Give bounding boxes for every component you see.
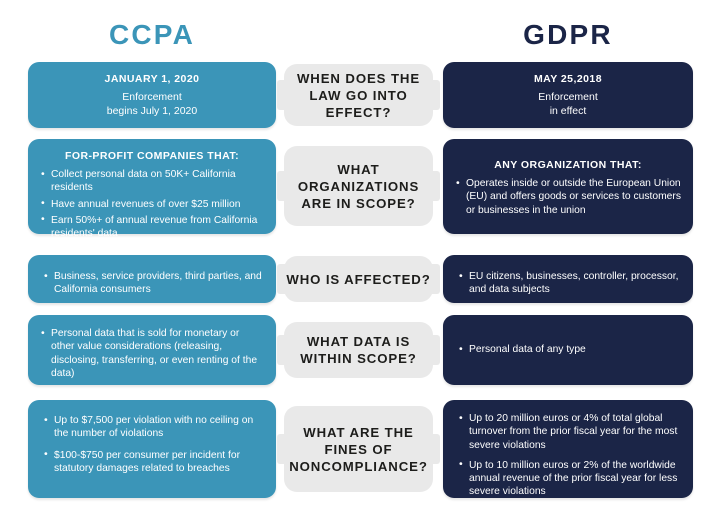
list-item: Business, service providers, third parti… [40, 270, 264, 297]
gdpr-effective-date-sub-line2: in effect [455, 105, 681, 119]
ccpa-card-organizations: FOR-PROFIT COMPANIES THAT: Collect perso… [28, 139, 276, 234]
pill-connector-right [432, 264, 440, 294]
question-pill-who-affected: Who is affected? [284, 256, 433, 302]
gdpr-data-scope-list: Personal data of any type [455, 343, 681, 356]
gdpr-effective-date-sub-line1: Enforcement [455, 91, 681, 105]
gdpr-organizations-list: Operates inside or outside the European … [455, 177, 681, 217]
column-title-gdpr: GDPR [443, 18, 693, 52]
list-item: Up to 10 million euros or 2% of the worl… [455, 459, 681, 499]
list-item: Up to 20 million euros or 4% of total gl… [455, 412, 681, 452]
ccpa-gdpr-comparison-infographic: CCPA GDPR JANUARY 1, 2020 Enforcement be… [0, 0, 720, 530]
question-label-data-scope: What data is within scope? [284, 333, 433, 367]
gdpr-card-data-scope: Personal data of any type [443, 315, 693, 385]
gdpr-card-effective-date: MAY 25,2018 Enforcement in effect [443, 62, 693, 128]
list-item: Operates inside or outside the European … [455, 177, 681, 217]
ccpa-effective-date-sub-line1: Enforcement [40, 91, 264, 105]
ccpa-organizations-heading: FOR-PROFIT COMPANIES THAT: [40, 150, 264, 163]
ccpa-card-fines: Up to $7,500 per violation with no ceili… [28, 400, 276, 498]
pill-connector-right [432, 434, 440, 464]
question-label-organizations: What organizations are in scope? [284, 161, 433, 212]
gdpr-card-fines: Up to 20 million euros or 4% of total gl… [443, 400, 693, 498]
pill-connector-right [432, 335, 440, 365]
list-item: Collect personal data on 50K+ California… [40, 168, 264, 195]
ccpa-card-who-affected: Business, service providers, third parti… [28, 255, 276, 303]
gdpr-organizations-heading: ANY ORGANIZATION THAT: [455, 159, 681, 172]
gdpr-effective-date-heading: MAY 25,2018 [455, 73, 681, 86]
column-title-ccpa: CCPA [28, 18, 276, 52]
question-pill-organizations: What organizations are in scope? [284, 146, 433, 226]
list-item: Up to $7,500 per violation with no ceili… [40, 414, 264, 441]
list-item: EU citizens, businesses, controller, pro… [455, 270, 681, 297]
ccpa-data-scope-list: Personal data that is sold for monetary … [40, 327, 264, 380]
ccpa-effective-date-sub-line2: begins July 1, 2020 [40, 105, 264, 119]
pill-connector-right [432, 80, 440, 110]
question-label-fines: What are the fines of noncompliance? [284, 424, 433, 475]
pill-connector-right [432, 171, 440, 201]
ccpa-card-effective-date: JANUARY 1, 2020 Enforcement begins July … [28, 62, 276, 128]
question-label-who-affected: Who is affected? [286, 271, 430, 288]
ccpa-who-affected-list: Business, service providers, third parti… [40, 270, 264, 297]
question-pill-fines: What are the fines of noncompliance? [284, 406, 433, 492]
list-item: Have annual revenues of over $25 million [40, 198, 264, 211]
list-item: $100-$750 per consumer per incident for … [40, 449, 264, 476]
ccpa-organizations-list: Collect personal data on 50K+ California… [40, 168, 264, 240]
ccpa-effective-date-heading: JANUARY 1, 2020 [40, 73, 264, 86]
gdpr-card-organizations: ANY ORGANIZATION THAT: Operates inside o… [443, 139, 693, 234]
ccpa-card-data-scope: Personal data that is sold for monetary … [28, 315, 276, 385]
ccpa-fines-list: Up to $7,500 per violation with no ceili… [40, 414, 264, 475]
gdpr-fines-list: Up to 20 million euros or 4% of total gl… [455, 412, 681, 499]
question-label-effective-date: When does the law go into effect? [284, 70, 433, 121]
list-item: Earn 50%+ of annual revenue from Califor… [40, 214, 264, 241]
question-pill-data-scope: What data is within scope? [284, 322, 433, 378]
list-item: Personal data that is sold for monetary … [40, 327, 264, 380]
gdpr-card-who-affected: EU citizens, businesses, controller, pro… [443, 255, 693, 303]
list-item: Personal data of any type [455, 343, 681, 356]
question-pill-effective-date: When does the law go into effect? [284, 64, 433, 126]
gdpr-who-affected-list: EU citizens, businesses, controller, pro… [455, 270, 681, 297]
pill-connector-left [277, 264, 285, 294]
